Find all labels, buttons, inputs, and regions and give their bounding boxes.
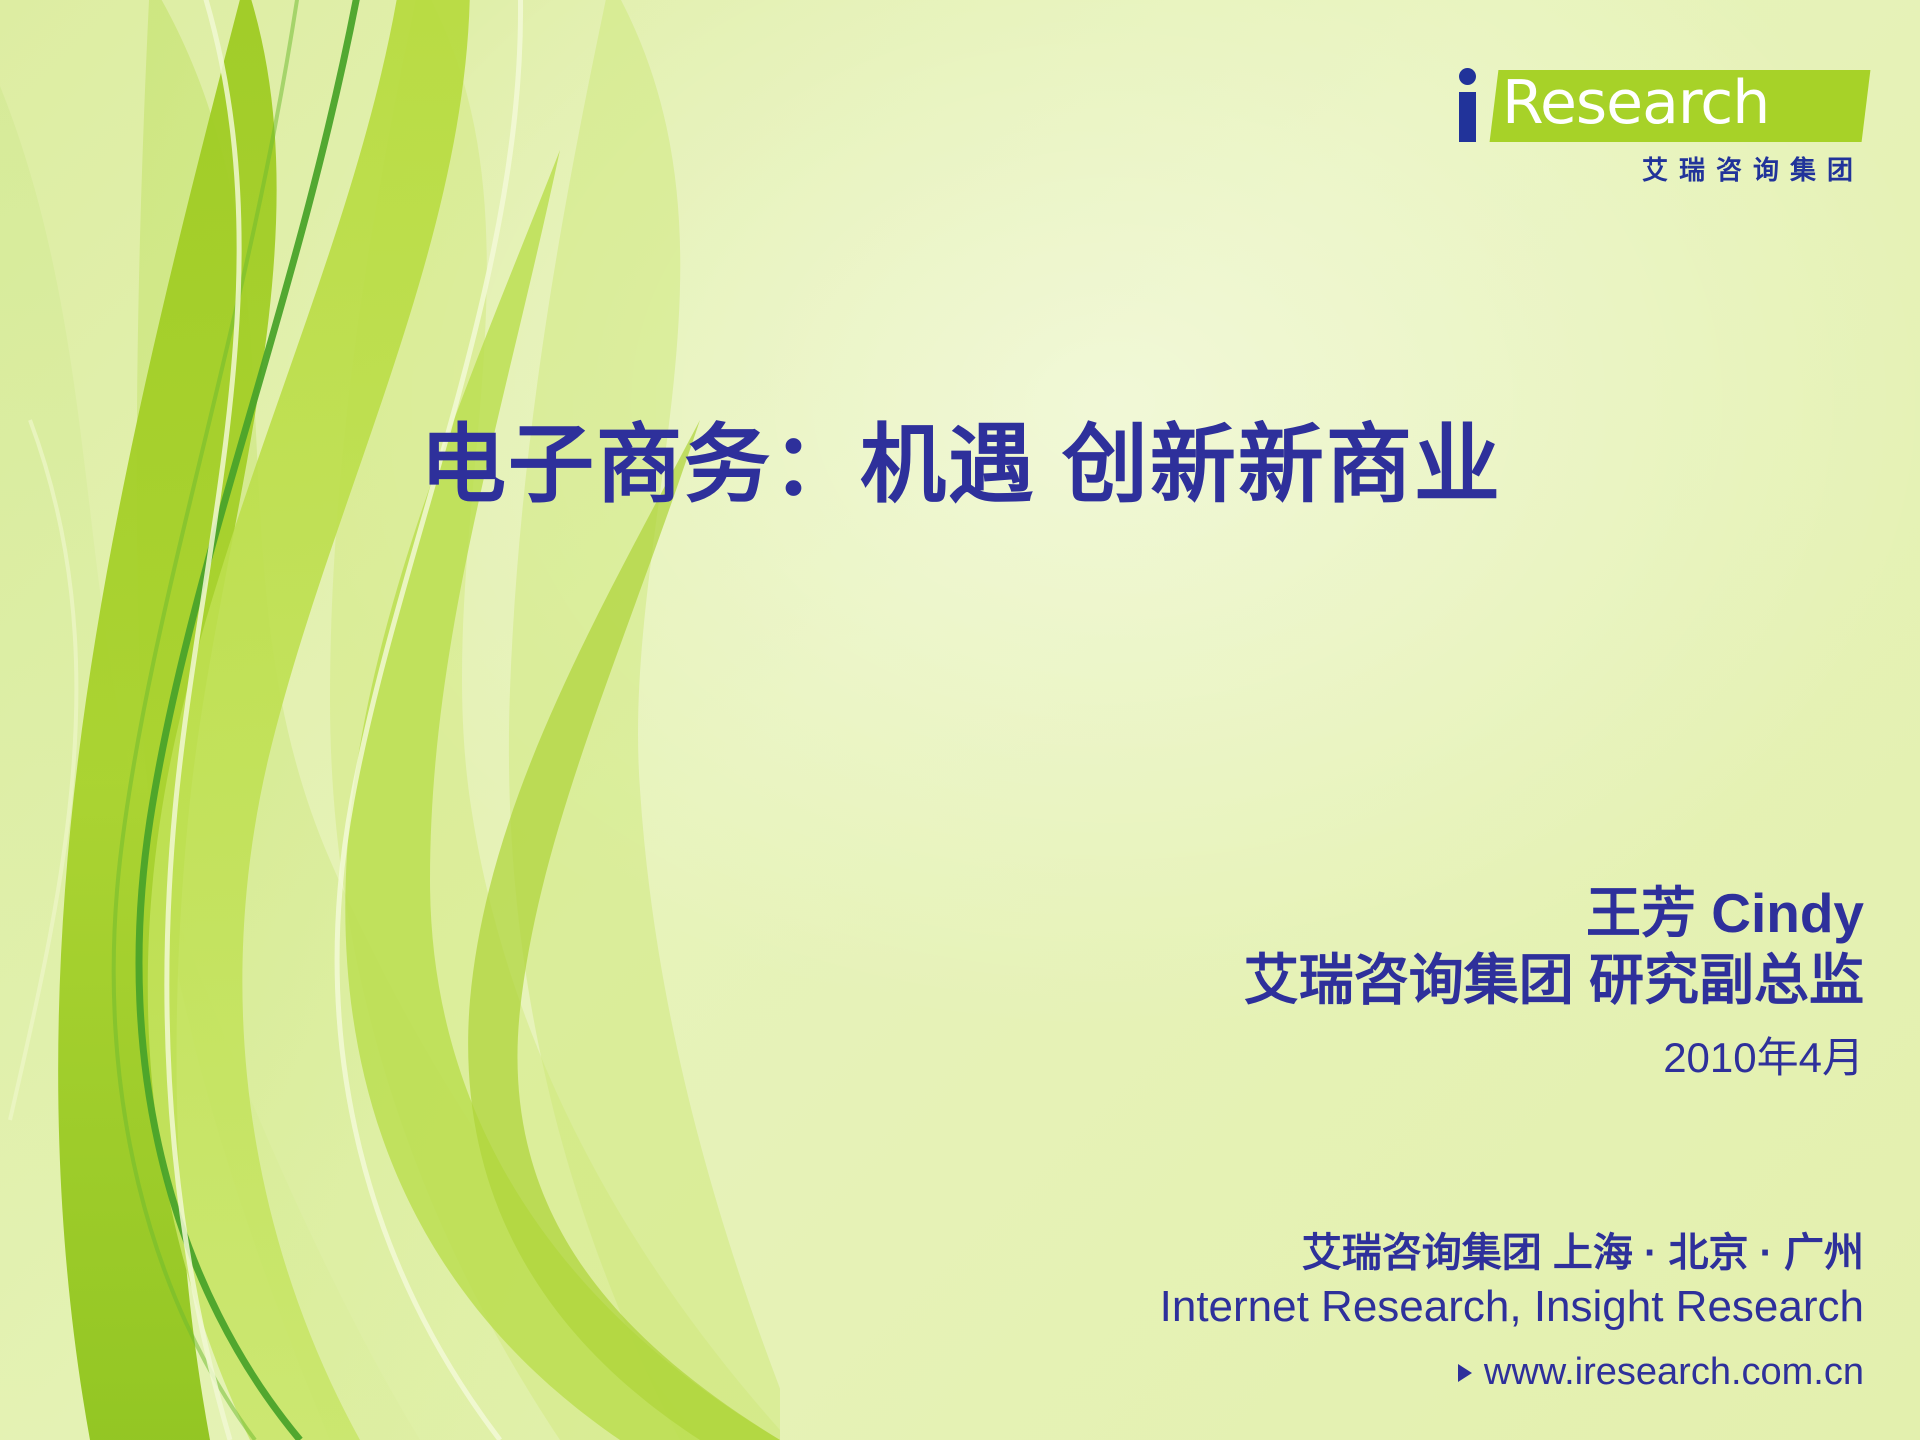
presentation-slide: Research 艾瑞咨询集团 电子商务：机遇 创新新商业 王芳 Cindy 艾… bbox=[0, 0, 1920, 1440]
logo-letter-i-stem bbox=[1459, 92, 1476, 142]
logo-wordmark: Research bbox=[1502, 67, 1874, 139]
author-role: 艾瑞咨询集团 研究副总监 bbox=[864, 947, 1864, 1014]
author-name: 王芳 Cindy bbox=[864, 880, 1864, 947]
slide-title: 电子商务：机遇 创新新商业 bbox=[420, 418, 1840, 513]
logo-letter-i-dot bbox=[1459, 68, 1476, 85]
website-url[interactable]: www.iresearch.com.cn bbox=[1484, 1351, 1864, 1394]
decorative-ribbon-graphic bbox=[0, 0, 780, 1440]
footer-company-offices: 艾瑞咨询集团 上海 · 北京 · 广州 bbox=[764, 1227, 1864, 1279]
presentation-date: 2010年4月 bbox=[864, 1026, 1864, 1089]
author-block: 王芳 Cindy 艾瑞咨询集团 研究副总监 2010年4月 bbox=[864, 880, 1864, 1089]
logo-chinese-name: 艾瑞咨询集团 bbox=[1446, 150, 1866, 187]
footer-url-row[interactable]: www.iresearch.com.cn bbox=[764, 1351, 1864, 1394]
triangle-bullet-icon bbox=[1458, 1364, 1472, 1382]
footer-block: 艾瑞咨询集团 上海 · 北京 · 广州 Internet Research, I… bbox=[764, 1227, 1864, 1394]
logo-mark: Research bbox=[1446, 58, 1866, 144]
iresearch-logo: Research 艾瑞咨询集团 bbox=[1446, 58, 1866, 187]
footer-tagline: Internet Research, Insight Research bbox=[764, 1279, 1864, 1335]
